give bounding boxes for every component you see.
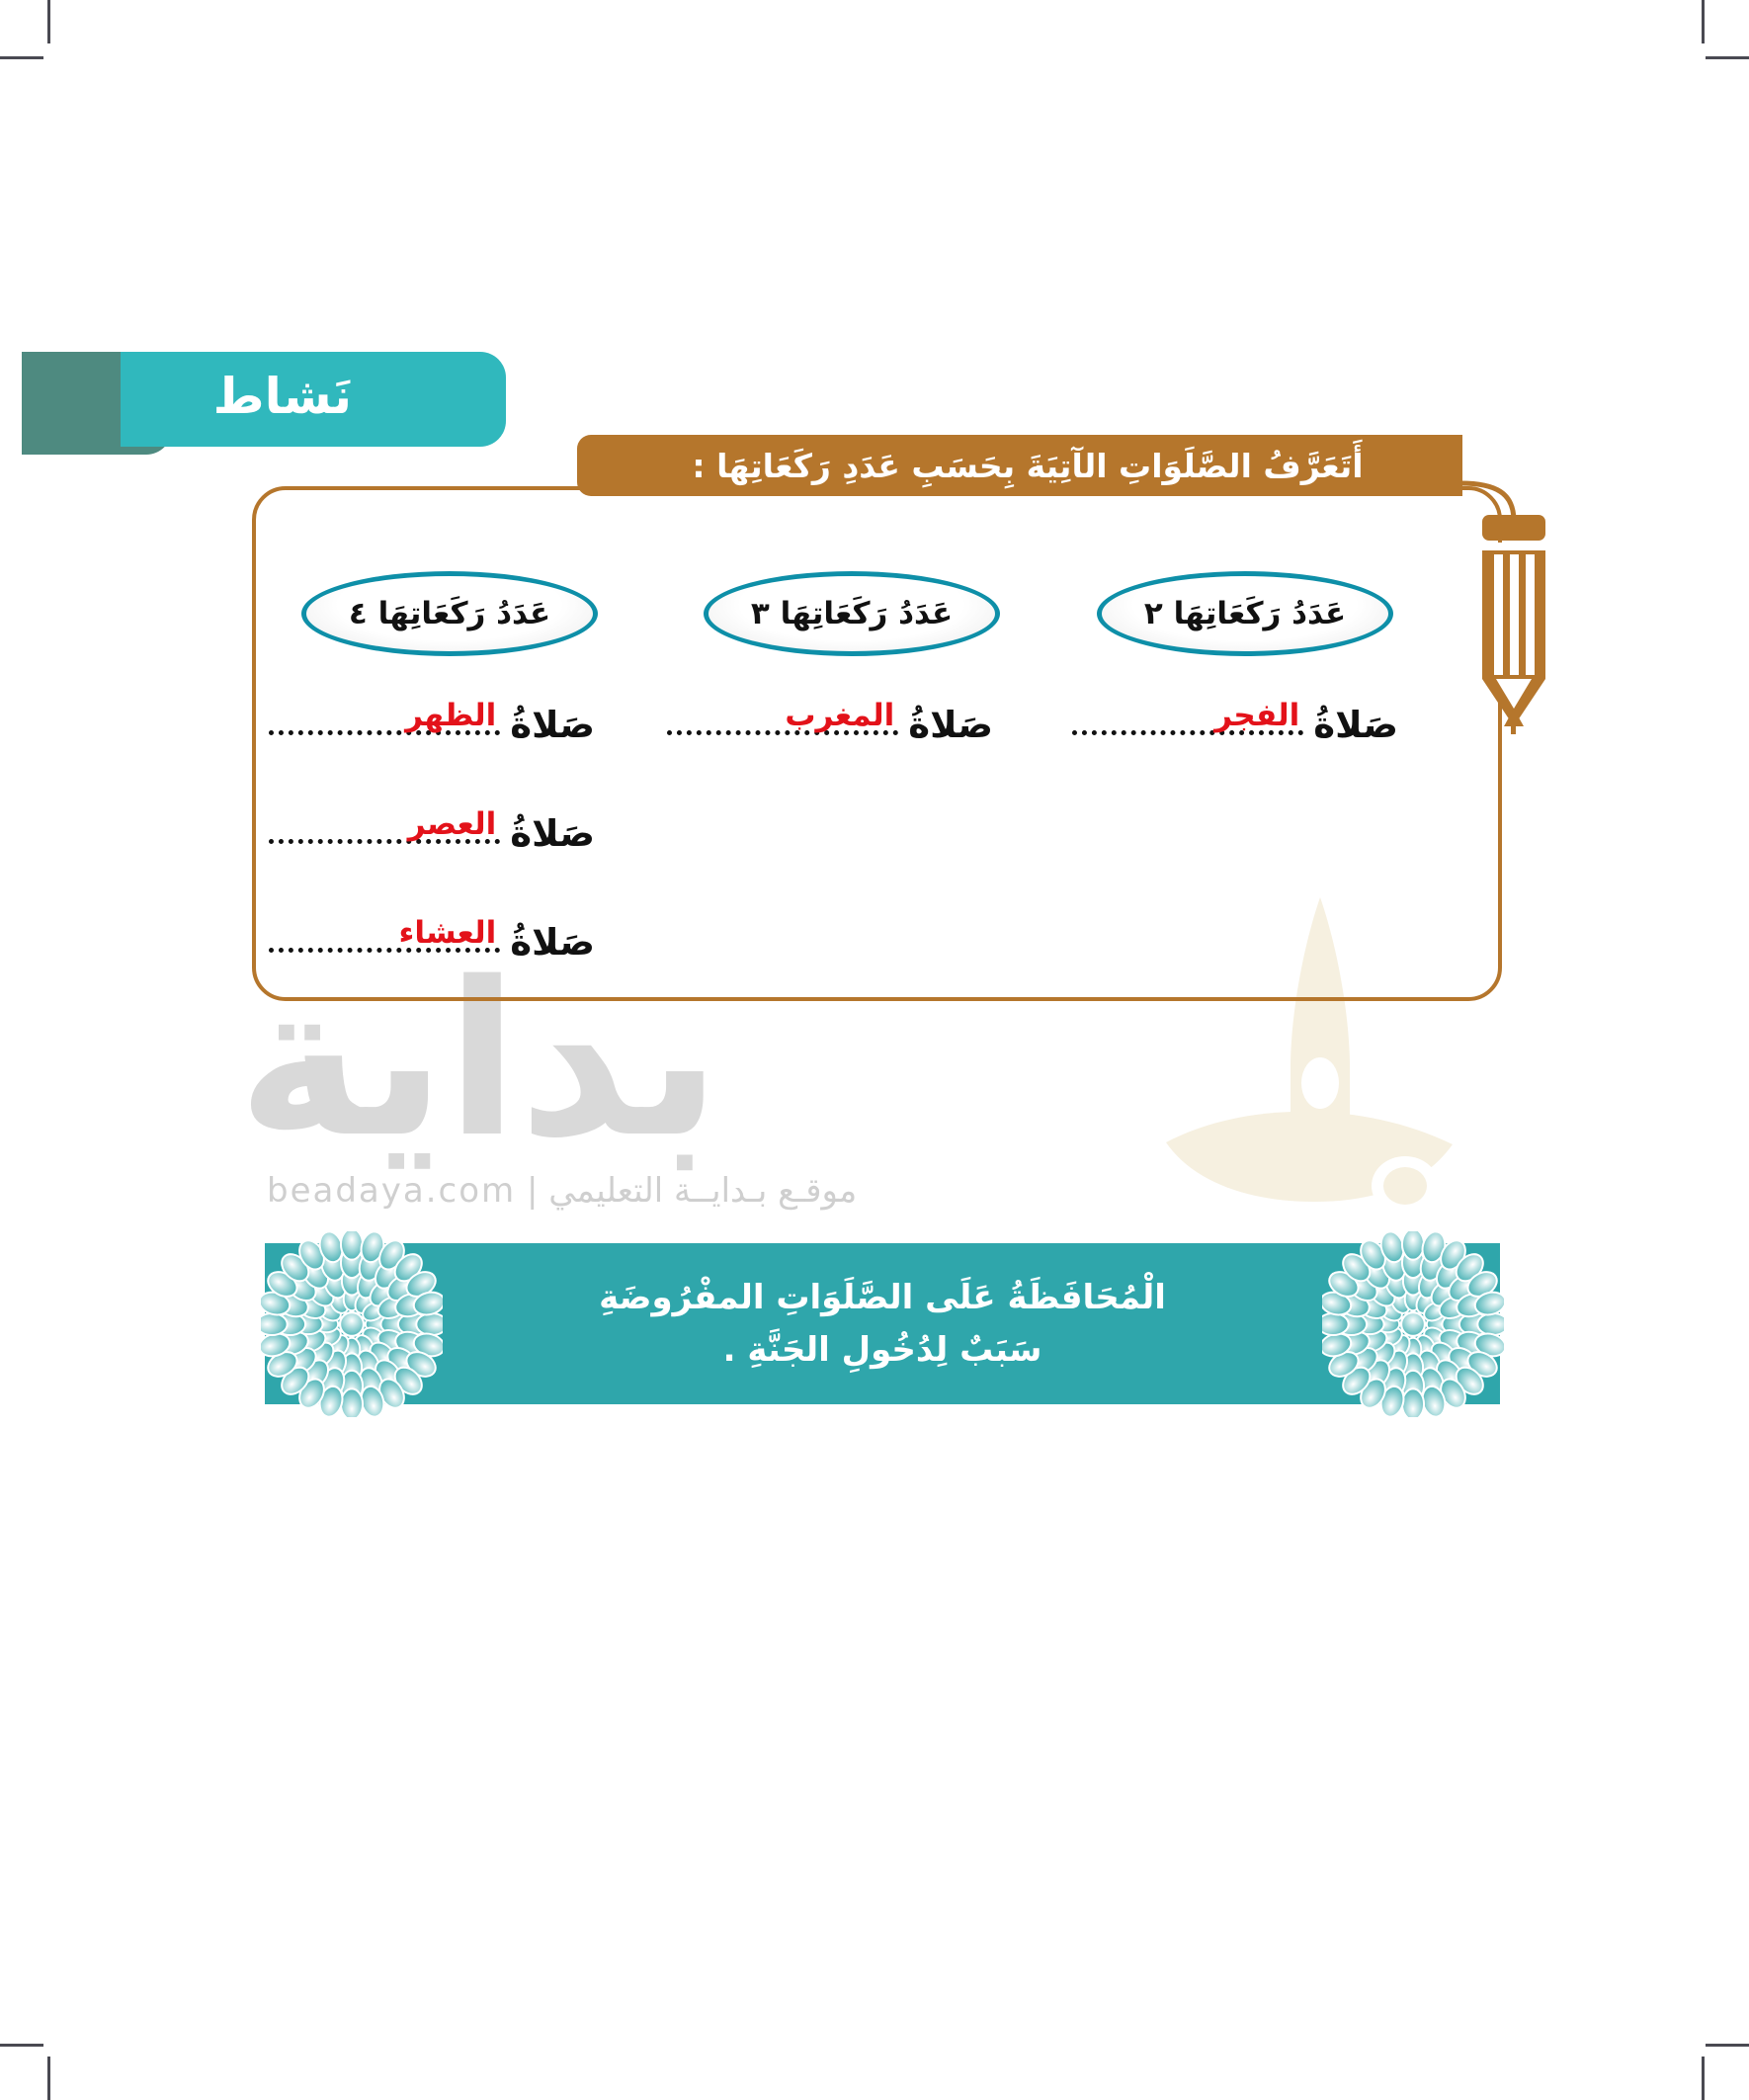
- conclusion-line-1: الْمُحَافَظَةُ عَلَى الصَّلَوَاتِ المفْر…: [599, 1272, 1166, 1324]
- rakaat-heading-oval-2: عَدَدُ رَكَعَاتِهَا ٢: [1097, 571, 1393, 656]
- instruction-banner: أَتَعَرَّفُ الصَّلَوَاتِ الآتِيَةَ بِحَس…: [593, 435, 1462, 496]
- instruction-text: أَتَعَرَّفُ الصَّلَوَاتِ الآتِيَةَ بِحَس…: [692, 447, 1363, 485]
- answer-prefix: صَلاةُ: [510, 812, 595, 855]
- answer-blank-fajr[interactable]: الفجر: [1072, 692, 1303, 737]
- activity-tab: نَشاط: [22, 352, 496, 455]
- answer-prefix: صَلاةُ: [510, 704, 595, 746]
- watermark-tagline: موقـع بـدايــة التعليمي | beadaya.com: [267, 1171, 857, 1211]
- conclusion-line-2: سَبَبٌ لِدُخُولِ الجَنَّةِ .: [723, 1324, 1042, 1377]
- crop-mark-bottom-left-horizontal: [0, 2044, 43, 2047]
- rosette-medallion-icon: [261, 1231, 443, 1417]
- rakaat-heading-oval-4: عَدَدُ رَكَعَاتِهَا ٤: [301, 571, 598, 656]
- rakaat-heading-label: عَدَدُ رَكَعَاتِهَا ٢: [1144, 596, 1346, 631]
- rakaat-heading-oval-3: عَدَدُ رَكَعَاتِهَا ٣: [704, 571, 1000, 656]
- activity-tab-label: نَشاط: [213, 372, 352, 427]
- activity-tab-banner: نَشاط: [121, 352, 506, 447]
- answer-row-maghrib: صَلاةُ المغرب: [667, 692, 993, 755]
- conclusion-banner: الْمُحَافَظَةُ عَلَى الصَّلَوَاتِ المفْر…: [265, 1243, 1500, 1404]
- answer-value: المغرب: [785, 698, 894, 733]
- crop-mark-top-left-vertical: [47, 0, 50, 43]
- answer-blank-dhuhr[interactable]: الظهر: [269, 692, 500, 737]
- answer-prefix: صَلاةُ: [908, 704, 993, 746]
- crop-mark-top-right-horizontal: [1706, 56, 1749, 59]
- answer-blank-isha[interactable]: العشاء: [269, 909, 500, 955]
- rosette-medallion-icon: [1322, 1231, 1504, 1417]
- answer-value: الفجر: [1214, 698, 1299, 733]
- answer-blank-maghrib[interactable]: المغرب: [667, 692, 898, 737]
- answer-blank-asr[interactable]: العصر: [269, 800, 500, 846]
- answer-row-dhuhr: صَلاةُ الظهر: [269, 692, 595, 755]
- answer-row-fajr: صَلاةُ الفجر: [1072, 692, 1398, 755]
- crop-mark-bottom-right-horizontal: [1706, 2044, 1749, 2047]
- crop-mark-top-left-horizontal: [0, 56, 43, 59]
- answer-prefix: صَلاةُ: [1313, 704, 1398, 746]
- crop-mark-bottom-left-vertical: [47, 2057, 50, 2100]
- answer-row-asr: صَلاةُ العصر: [269, 800, 595, 864]
- answer-value: الظهر: [405, 698, 496, 733]
- crop-mark-bottom-right-vertical: [1702, 2057, 1705, 2100]
- answer-value: العصر: [408, 806, 497, 842]
- rakaat-heading-label: عَدَدُ رَكَعَاتِهَا ٣: [751, 596, 953, 631]
- rakaat-heading-label: عَدَدُ رَكَعَاتِهَا ٤: [349, 596, 550, 631]
- answer-value: العشاء: [398, 915, 496, 951]
- crop-mark-top-right-vertical: [1702, 0, 1705, 43]
- pencil-icon: [1453, 477, 1571, 734]
- answer-prefix: صَلاةُ: [510, 921, 595, 964]
- answer-row-isha: صَلاةُ العشاء: [269, 909, 595, 972]
